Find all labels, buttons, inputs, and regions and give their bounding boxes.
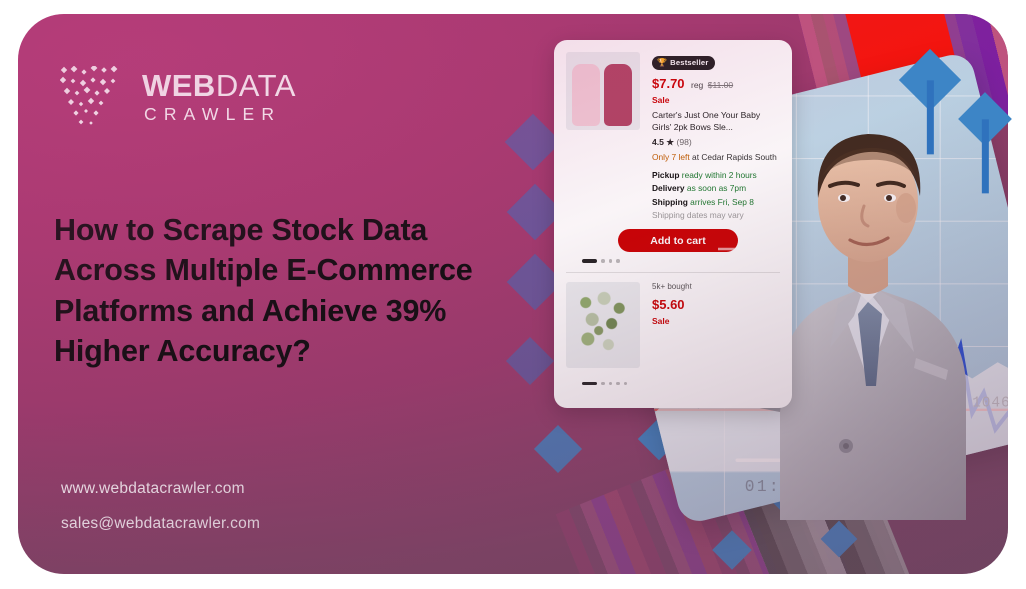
dotted-w-logo-icon bbox=[60, 66, 128, 128]
carousel-dot[interactable] bbox=[601, 382, 605, 386]
rating-value: 4.5 bbox=[652, 137, 664, 147]
decor-diamond bbox=[505, 114, 562, 171]
product-price-2: $5.60 bbox=[652, 297, 685, 312]
product-main-row: 🏆 Bestseller $7.70 reg $11.00 Sale Carte… bbox=[566, 52, 780, 222]
fulfillment-label: Shipping bbox=[652, 197, 688, 207]
price-row: $7.70 reg $11.00 bbox=[652, 75, 780, 93]
product-title[interactable]: Carter's Just One Your Baby Girls' 2pk B… bbox=[652, 109, 780, 134]
fulfillment-label: Delivery bbox=[652, 183, 685, 193]
fulfillment-value: as soon as 7pm bbox=[687, 183, 746, 193]
product-price: $7.70 bbox=[652, 76, 685, 91]
carousel-dot[interactable] bbox=[624, 382, 628, 386]
fulfillment-row: Delivery as soon as 7pm bbox=[652, 182, 780, 195]
status-badge: 🏆 Bestseller bbox=[652, 56, 715, 70]
fulfillment-value: ready within 2 hours bbox=[682, 170, 757, 180]
sparkle-icon bbox=[718, 226, 764, 272]
product-original-price: $11.00 bbox=[708, 80, 733, 90]
stock-warning: Only 7 left bbox=[652, 152, 690, 162]
rating-count: (98) bbox=[676, 137, 691, 147]
website-link[interactable]: www.webdatacrawler.com bbox=[61, 480, 260, 497]
trophy-icon: 🏆 bbox=[657, 58, 667, 67]
sparkle-icon bbox=[684, 278, 706, 300]
promo-banner: WEBDATA CRAWLER How to Scrape Stock Data… bbox=[0, 0, 1026, 589]
fulfillment-note: Shipping dates may vary bbox=[652, 209, 780, 222]
brand-name-bold: WEB bbox=[142, 68, 216, 103]
fulfillment-label: Pickup bbox=[652, 170, 679, 180]
fulfillment-value: arrives Fri, Sep 8 bbox=[690, 197, 754, 207]
email-link[interactable]: sales@webdatacrawler.com bbox=[61, 515, 260, 532]
pajama-right-icon bbox=[604, 64, 632, 126]
contact-block: www.webdatacrawler.com sales@webdatacraw… bbox=[61, 480, 260, 532]
carousel-dot-active[interactable] bbox=[582, 382, 597, 386]
product-card[interactable]: 🏆 Bestseller $7.70 reg $11.00 Sale Carte… bbox=[554, 40, 792, 408]
brand-name-sub: CRAWLER bbox=[142, 106, 296, 124]
pajama-left-icon bbox=[572, 64, 600, 126]
product-thumbnail[interactable] bbox=[566, 52, 640, 130]
carousel-dots-2[interactable] bbox=[582, 382, 780, 386]
star-icon: ★ bbox=[666, 137, 674, 147]
brand-name-row: WEBDATA bbox=[142, 70, 296, 101]
page-title: How to Scrape Stock Data Across Multiple… bbox=[54, 210, 524, 371]
product-rating: 4.5 ★ (98) bbox=[652, 137, 780, 148]
carousel-dot-active[interactable] bbox=[582, 259, 597, 263]
carousel-dot[interactable] bbox=[616, 259, 620, 263]
sale-label: Sale bbox=[652, 95, 780, 105]
fulfillment-row: Pickup ready within 2 hours bbox=[652, 169, 780, 182]
product-second-row: 5k+ bought $5.60 Sale bbox=[566, 282, 780, 368]
stock-location: at Cedar Rapids South bbox=[692, 152, 777, 162]
divider bbox=[566, 272, 780, 273]
product-thumbnail-2[interactable] bbox=[566, 282, 640, 368]
product-image-2-icon bbox=[576, 290, 630, 360]
carousel-dot[interactable] bbox=[616, 382, 620, 386]
brand-name-light: DATA bbox=[216, 68, 296, 103]
badge-label: Bestseller bbox=[670, 58, 708, 67]
sparkle-icon bbox=[760, 282, 790, 312]
sale-label-2: Sale bbox=[652, 316, 780, 326]
brand-wordmark: WEBDATA CRAWLER bbox=[142, 70, 296, 124]
banner-card: WEBDATA CRAWLER How to Scrape Stock Data… bbox=[18, 14, 1008, 574]
fulfillment-options: Pickup ready within 2 hours Delivery as … bbox=[652, 169, 780, 223]
carousel-dot[interactable] bbox=[609, 382, 613, 386]
price-reg-label: reg bbox=[691, 80, 703, 90]
stock-status: Only 7 left at Cedar Rapids South bbox=[652, 152, 780, 164]
carousel-dot[interactable] bbox=[609, 259, 613, 263]
carousel-dot[interactable] bbox=[601, 259, 605, 263]
brand-logo: WEBDATA CRAWLER bbox=[60, 66, 296, 128]
product-details: 🏆 Bestseller $7.70 reg $11.00 Sale Carte… bbox=[652, 52, 780, 222]
decor-diamond bbox=[534, 425, 582, 473]
fulfillment-row: Shipping arrives Fri, Sep 8 bbox=[652, 196, 780, 209]
